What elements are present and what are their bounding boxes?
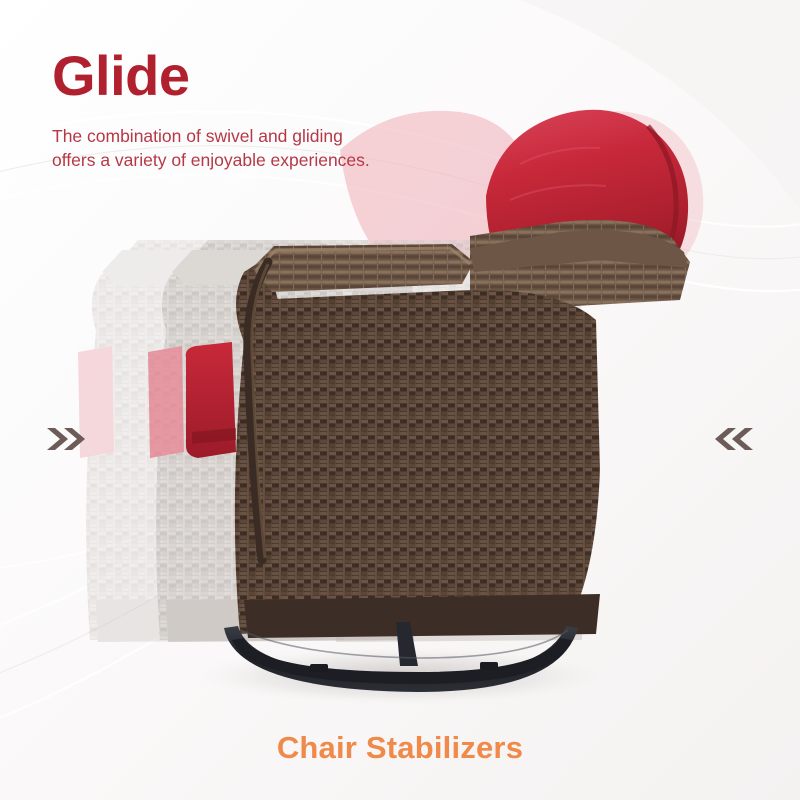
motion-indicator-right: [714, 424, 756, 454]
double-chevron-right-icon: [44, 424, 86, 454]
chair-seat-base-edge: [244, 594, 600, 638]
double-chevron-left-icon: [714, 424, 756, 454]
product-feature-card: Glide The combination of swivel and glid…: [0, 0, 800, 800]
chair-side-panel: [244, 290, 601, 632]
headline-block: Glide The combination of swivel and glid…: [52, 48, 370, 172]
motion-indicator-left: [44, 424, 86, 454]
feature-caption: Chair Stabilizers: [0, 730, 800, 766]
page-subtitle: The combination of swivel and gliding of…: [52, 124, 370, 172]
page-title: Glide: [52, 48, 370, 104]
